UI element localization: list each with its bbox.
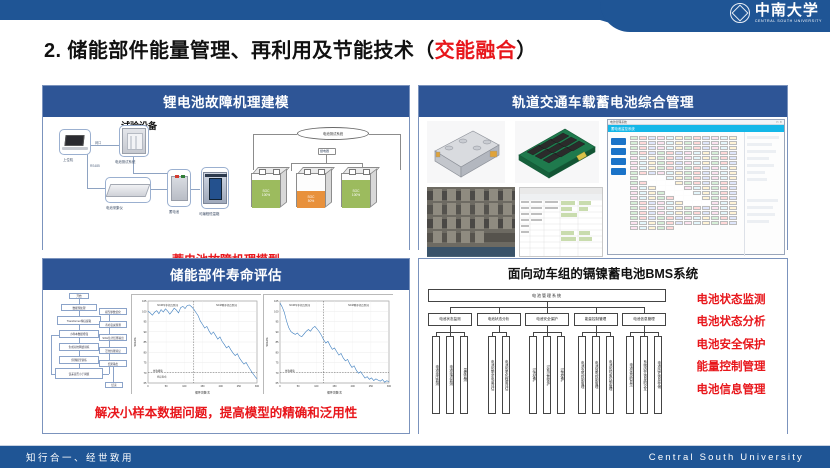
bms-cell[interactable] xyxy=(729,196,737,200)
tree-leafbus-1 xyxy=(492,332,506,333)
bms-cell[interactable] xyxy=(666,211,674,215)
bms-cell[interactable] xyxy=(720,141,728,145)
bms-cell[interactable] xyxy=(648,211,656,215)
svg-text:200: 200 xyxy=(219,385,224,388)
bms-cell[interactable] xyxy=(684,186,692,190)
panel-rail-battery-management: 轨道交通车载蓄电池综合管理 xyxy=(418,85,788,250)
bms-cell[interactable] xyxy=(693,151,701,155)
svg-text:200: 200 xyxy=(351,385,356,388)
bms-cell[interactable] xyxy=(630,221,638,225)
image-battery-box-cad xyxy=(427,121,505,183)
bms-cell[interactable] xyxy=(693,196,701,200)
wire-label-rs485: RS485 xyxy=(90,164,100,168)
bms-cell[interactable] xyxy=(648,136,656,140)
bms-cell[interactable] xyxy=(639,151,647,155)
bms-cell[interactable] xyxy=(711,151,719,155)
bms-cell[interactable] xyxy=(657,201,665,205)
bms-cell[interactable] xyxy=(702,136,710,140)
svg-text:循环次数/次: 循环次数/次 xyxy=(327,391,342,395)
bms-cell[interactable] xyxy=(684,206,692,210)
svg-text:250: 250 xyxy=(369,385,374,388)
bms-cell[interactable] xyxy=(666,176,674,180)
bms-cell[interactable] xyxy=(648,201,656,205)
bms-cell[interactable] xyxy=(648,196,656,200)
bms-cell[interactable] xyxy=(648,156,656,160)
bms-cell[interactable] xyxy=(666,171,674,175)
bms-cell[interactable] xyxy=(630,201,638,205)
bms-cell[interactable] xyxy=(630,226,638,230)
bms-cell[interactable] xyxy=(666,136,674,140)
bms-cell[interactable] xyxy=(639,206,647,210)
bms-cell[interactable] xyxy=(720,216,728,220)
bms-cell[interactable] xyxy=(702,151,710,155)
bms-cell[interactable] xyxy=(711,141,719,145)
bms-cell[interactable] xyxy=(720,186,728,190)
bms-cell[interactable] xyxy=(666,151,674,155)
bms-cell[interactable] xyxy=(711,176,719,180)
cell-2-terminal-b xyxy=(318,169,325,175)
bms-cell[interactable] xyxy=(657,221,665,225)
tree-leaf-1-1: 电池的老化程度评估 xyxy=(502,336,510,414)
bms-cell[interactable] xyxy=(684,211,692,215)
bms-cell[interactable] xyxy=(711,191,719,195)
bms-cell[interactable] xyxy=(693,171,701,175)
bms-cell[interactable] xyxy=(720,221,728,225)
bms-cell[interactable] xyxy=(657,136,665,140)
bms-cell[interactable] xyxy=(630,211,638,215)
bms-cell[interactable] xyxy=(693,141,701,145)
bms-cell[interactable] xyxy=(675,146,683,150)
bms-cell[interactable] xyxy=(675,211,683,215)
bms-cell[interactable] xyxy=(639,176,647,180)
bms-cell[interactable] xyxy=(657,176,665,180)
bms-cell[interactable] xyxy=(675,201,683,205)
bms-cell[interactable] xyxy=(675,186,683,190)
svg-text:150: 150 xyxy=(200,385,205,388)
bms-cell[interactable] xyxy=(657,151,665,155)
footer-university-name: Central South University xyxy=(649,452,804,463)
tree-leaf-2-1: 过充过放保护 xyxy=(543,336,551,414)
bms-cell[interactable] xyxy=(720,161,728,165)
bms-cell[interactable] xyxy=(711,156,719,160)
bms-cell[interactable] xyxy=(639,201,647,205)
bms-cell[interactable] xyxy=(675,196,683,200)
bms-cell[interactable] xyxy=(711,136,719,140)
bms-cell[interactable] xyxy=(729,171,737,175)
bms-cell[interactable] xyxy=(639,211,647,215)
bms-cell[interactable] xyxy=(711,221,719,225)
chamber-icon xyxy=(203,172,227,204)
bms-cell[interactable] xyxy=(729,136,737,140)
bms-cell[interactable] xyxy=(720,181,728,185)
panel-lithium-fault-modeling: 锂电池故障机理建模 试验设备 网口 RS485 上位机 电池测试系统 xyxy=(42,85,410,250)
bms-cell[interactable] xyxy=(675,166,683,170)
bms-cell[interactable] xyxy=(675,171,683,175)
image-data-table-screenshot xyxy=(519,187,603,257)
bms-cell[interactable] xyxy=(684,156,692,160)
bms-cell[interactable] xyxy=(639,161,647,165)
bms-cell[interactable] xyxy=(657,186,665,190)
bms-cell[interactable] xyxy=(693,146,701,150)
page-header: 中南大学 CENTRAL SOUTH UNIVERSITY xyxy=(0,0,830,32)
bms-cell[interactable] xyxy=(648,191,656,195)
bms-cell[interactable] xyxy=(711,196,719,200)
bms-cell[interactable] xyxy=(639,186,647,190)
life-assessment-flowchart: 开始 数据预处理 Transformer特征提取 小样本数据增强 生成对抗网络训… xyxy=(43,290,129,400)
bms-cell[interactable] xyxy=(648,181,656,185)
bms-cell[interactable] xyxy=(711,211,719,215)
bms-cell[interactable] xyxy=(666,156,674,160)
svg-text:100: 100 xyxy=(182,385,187,388)
bms-cell[interactable] xyxy=(693,136,701,140)
bms-cell[interactable] xyxy=(648,176,656,180)
tree-root-node: 电池管理系统 xyxy=(428,289,666,302)
battery-cell-2: SOC50% xyxy=(296,167,336,209)
tree-leaf-2-2: 过温保护 xyxy=(557,336,565,414)
bms-cell[interactable] xyxy=(711,166,719,170)
svg-text:150: 150 xyxy=(332,385,337,388)
panel-storage-life-assessment: 储能部件寿命评估 开始 数据预处理 Transformer特征提取 小样本数据增… xyxy=(42,258,410,434)
bms-cell[interactable] xyxy=(711,146,719,150)
bms-cell[interactable] xyxy=(657,166,665,170)
svg-text:100: 100 xyxy=(274,309,279,313)
bms-cell[interactable] xyxy=(630,191,638,195)
bms-cell[interactable] xyxy=(657,141,665,145)
bms-cell[interactable] xyxy=(630,216,638,220)
bms-cell[interactable] xyxy=(648,221,656,225)
bms-cell[interactable] xyxy=(711,206,719,210)
bms-cell[interactable] xyxy=(684,146,692,150)
flow-decision: 误差是否小于阈值 xyxy=(55,368,103,379)
bms-cell[interactable] xyxy=(693,221,701,225)
bms-cell[interactable] xyxy=(684,181,692,185)
bms-cell[interactable] xyxy=(666,196,674,200)
bms-cell[interactable] xyxy=(702,201,710,205)
bms-cell[interactable] xyxy=(675,216,683,220)
page-title-tail: ） xyxy=(516,40,536,62)
bms-cell[interactable] xyxy=(657,226,665,230)
bms-cell[interactable] xyxy=(648,171,656,175)
bms-cell[interactable] xyxy=(639,216,647,220)
bms-cell[interactable] xyxy=(630,151,638,155)
bms-cell[interactable] xyxy=(720,156,728,160)
bms-cell[interactable] xyxy=(630,171,638,175)
bms-cell[interactable] xyxy=(648,186,656,190)
bms-cell[interactable] xyxy=(639,166,647,170)
bms-cell[interactable] xyxy=(711,181,719,185)
bms-cell[interactable] xyxy=(639,181,647,185)
bms-cell[interactable] xyxy=(675,151,683,155)
bms-cell[interactable] xyxy=(639,136,647,140)
flow-node-9: SOH估计结果输出 xyxy=(99,334,127,341)
bms-cell[interactable] xyxy=(630,196,638,200)
cell-3-terminal-a xyxy=(349,169,356,175)
bms-cell[interactable] xyxy=(684,221,692,225)
bms-cell[interactable] xyxy=(657,146,665,150)
bms-cell[interactable] xyxy=(666,206,674,210)
bms-cell[interactable] xyxy=(657,161,665,165)
bms-cell[interactable] xyxy=(666,161,674,165)
bms-cell[interactable] xyxy=(702,161,710,165)
bms-cell[interactable] xyxy=(720,136,728,140)
bms-cell[interactable] xyxy=(729,181,737,185)
flow-node-4: 生成对抗网络训练 xyxy=(59,343,99,351)
battery-cell-1: SOC100% xyxy=(251,167,291,209)
bms-cell[interactable] xyxy=(630,186,638,190)
bms-cell[interactable] xyxy=(639,221,647,225)
tree-leaf-4-2: 电池历史信息存储 xyxy=(654,336,662,414)
bms-cell[interactable] xyxy=(729,141,737,145)
bms-cell[interactable] xyxy=(720,176,728,180)
bms-cell[interactable] xyxy=(684,201,692,205)
bms-cell[interactable] xyxy=(702,206,710,210)
bms-cell[interactable] xyxy=(720,196,728,200)
bms-cell[interactable] xyxy=(729,186,737,190)
bms-cell[interactable] xyxy=(675,191,683,195)
flow-node-7: 模型参数优化 xyxy=(99,308,127,315)
bms-cell[interactable] xyxy=(657,191,665,195)
bms-cell[interactable] xyxy=(657,216,665,220)
bms-cell[interactable] xyxy=(657,181,665,185)
bms-cell[interactable] xyxy=(693,186,701,190)
bms-cell[interactable] xyxy=(630,156,638,160)
bms-cell[interactable] xyxy=(639,226,647,230)
bms-cell[interactable] xyxy=(702,216,710,220)
bms-cell[interactable] xyxy=(693,161,701,165)
bms-cell[interactable] xyxy=(702,221,710,225)
page-title-main: 2. 储能部件能量管理、再利用及节能技术（ xyxy=(44,40,435,62)
tree-branch-1: 电池状态分析 xyxy=(477,313,521,326)
bms-cell[interactable] xyxy=(630,161,638,165)
svg-text:拐点寿命: 拐点寿命 xyxy=(157,374,167,378)
logo-english-name: CENTRAL SOUTH UNIVERSITY xyxy=(755,20,822,24)
bms-cell[interactable] xyxy=(729,176,737,180)
bms-cell[interactable] xyxy=(675,156,683,160)
bms-cell[interactable] xyxy=(666,181,674,185)
bms-cell[interactable] xyxy=(630,166,638,170)
tree-leaf-3-1: 电池放电控制管理 xyxy=(592,336,600,414)
bms-cell[interactable] xyxy=(657,196,665,200)
bms-cell[interactable] xyxy=(666,226,674,230)
bms-cell[interactable] xyxy=(729,206,737,210)
bms-cell[interactable] xyxy=(729,166,737,170)
bms-cell[interactable] xyxy=(702,191,710,195)
bms-cell[interactable] xyxy=(693,181,701,185)
bms-cell[interactable] xyxy=(657,156,665,160)
bms-cell[interactable] xyxy=(729,211,737,215)
bms-cell[interactable] xyxy=(693,156,701,160)
bms-cell[interactable] xyxy=(702,166,710,170)
bms-cell[interactable] xyxy=(720,151,728,155)
bms-cell[interactable] xyxy=(693,206,701,210)
bms-cell[interactable] xyxy=(639,191,647,195)
bms-software-window[interactable]: 电池管理系统 ▭ ✕ 蓄电池监控系统 xyxy=(607,119,785,255)
bms-cell[interactable] xyxy=(657,211,665,215)
svg-text:250: 250 xyxy=(237,385,242,388)
bms-cell[interactable] xyxy=(729,216,737,220)
bms-sidebar-button-2[interactable] xyxy=(611,158,626,165)
cell-1-terminal-a xyxy=(259,169,266,175)
svg-text:NCM早于拐点区间: NCM早于拐点区间 xyxy=(157,303,178,307)
bms-cell[interactable] xyxy=(684,161,692,165)
bms-cell[interactable] xyxy=(720,211,728,215)
bms-cell[interactable] xyxy=(720,191,728,195)
bms-cell[interactable] xyxy=(729,161,737,165)
tree-leaf-0-0: 电池电压监测 xyxy=(432,336,440,414)
bms-cell[interactable] xyxy=(630,141,638,145)
bms-cell[interactable] xyxy=(702,186,710,190)
bms-cell[interactable] xyxy=(639,171,647,175)
window-controls-icon[interactable]: ▭ ✕ xyxy=(776,120,782,124)
bms-cell[interactable] xyxy=(684,166,692,170)
bms-cell[interactable] xyxy=(684,136,692,140)
bms-cell[interactable] xyxy=(702,181,710,185)
svg-text:NCM晚于拐点区间: NCM晚于拐点区间 xyxy=(216,303,237,307)
bms-cell[interactable] xyxy=(729,191,737,195)
bms-cell[interactable] xyxy=(729,151,737,155)
equipment-battery xyxy=(167,169,191,207)
bms-sidebar-button-3[interactable] xyxy=(611,168,626,175)
bms-cell[interactable] xyxy=(648,161,656,165)
bms-cell[interactable] xyxy=(630,176,638,180)
bms-cell[interactable] xyxy=(711,186,719,190)
bms-cell[interactable] xyxy=(729,156,737,160)
page-title-accent: 交能融合 xyxy=(435,40,517,62)
bms-cell[interactable] xyxy=(639,146,647,150)
panel-br-title: 面向动车组的镉镍蓄电池BMS系统 xyxy=(419,259,787,285)
bms-cell[interactable] xyxy=(702,146,710,150)
flow-node-8: 寿命衰减预测 xyxy=(99,321,127,328)
bms-cell[interactable] xyxy=(693,216,701,220)
bms-cell[interactable] xyxy=(639,196,647,200)
bms-cell[interactable] xyxy=(675,221,683,225)
tree-leafstem-1 xyxy=(499,326,500,332)
bms-cell[interactable] xyxy=(702,211,710,215)
bms-cell[interactable] xyxy=(675,206,683,210)
bms-cell[interactable] xyxy=(711,161,719,165)
flow-node-10: 泛化性能验证 xyxy=(99,347,127,354)
bms-cell[interactable] xyxy=(675,136,683,140)
bms-cell[interactable] xyxy=(630,206,638,210)
bms-cell[interactable] xyxy=(684,216,692,220)
cell-1-fill: SOC100% xyxy=(252,180,280,208)
bms-cell[interactable] xyxy=(693,211,701,215)
equipment-laptop-label: 上位机 xyxy=(63,157,73,162)
rack-icon xyxy=(122,128,146,154)
bms-cell[interactable] xyxy=(630,146,638,150)
image-battery-rack-photo xyxy=(427,187,515,257)
bms-cell[interactable] xyxy=(684,171,692,175)
bms-cell[interactable] xyxy=(693,166,701,170)
tree-leaf-4-0: 电池状态的显示 xyxy=(626,336,634,414)
bms-sidebar-button-0[interactable] xyxy=(611,138,626,145)
bms-cell[interactable] xyxy=(639,156,647,160)
wire-laptop-rack xyxy=(87,145,121,146)
bms-cell[interactable] xyxy=(648,151,656,155)
flow-node-3: 小样本数据增强 xyxy=(59,330,99,338)
bms-cell[interactable] xyxy=(648,141,656,145)
bms-cell[interactable] xyxy=(684,191,692,195)
bms-cell[interactable] xyxy=(729,201,737,205)
bms-cell[interactable] xyxy=(666,216,674,220)
bms-cell[interactable] xyxy=(711,201,719,205)
bms-cell[interactable] xyxy=(630,136,638,140)
bms-cell[interactable] xyxy=(729,146,737,150)
bms-cell[interactable] xyxy=(693,191,701,195)
bms-cell[interactable] xyxy=(666,141,674,145)
bms-cell[interactable] xyxy=(675,181,683,185)
bms-cell[interactable] xyxy=(666,201,674,205)
bms-cell[interactable] xyxy=(711,216,719,220)
bms-cell-grid[interactable] xyxy=(628,132,744,256)
bms-cell[interactable] xyxy=(702,171,710,175)
wire-ellipse-left xyxy=(253,134,297,135)
bms-cell[interactable] xyxy=(720,171,728,175)
bms-cell[interactable] xyxy=(702,196,710,200)
bms-cell[interactable] xyxy=(693,176,701,180)
bms-cell[interactable] xyxy=(666,166,674,170)
bms-cell[interactable] xyxy=(657,206,665,210)
soh-chart-2: 65707580859095100105050100150200250300NC… xyxy=(263,294,393,394)
bms-cell[interactable] xyxy=(630,181,638,185)
battery-cell-3: SOC100% xyxy=(341,167,381,209)
bms-cell[interactable] xyxy=(729,221,737,225)
bms-cell[interactable] xyxy=(684,196,692,200)
bms-cell[interactable] xyxy=(720,201,728,205)
bms-cell[interactable] xyxy=(720,206,728,210)
bms-cell[interactable] xyxy=(702,156,710,160)
bms-cell[interactable] xyxy=(648,226,656,230)
bms-cell[interactable] xyxy=(693,201,701,205)
bms-cell[interactable] xyxy=(657,171,665,175)
bms-cell[interactable] xyxy=(648,206,656,210)
wire-ellipse-left-down xyxy=(253,134,254,170)
tree-leaf-0-2: 温度监测 xyxy=(460,336,468,414)
bms-cell[interactable] xyxy=(675,141,683,145)
bms-cell[interactable] xyxy=(666,146,674,150)
bms-cell[interactable] xyxy=(702,141,710,145)
panel-cdni-bms-system: 面向动车组的镉镍蓄电池BMS系统 电池管理系统 电池状态监测电池电压监测电池电流… xyxy=(418,258,788,434)
bms-cell[interactable] xyxy=(702,176,710,180)
bms-cell[interactable] xyxy=(648,146,656,150)
bms-cell[interactable] xyxy=(666,191,674,195)
bms-cell[interactable] xyxy=(666,221,674,225)
bms-window-title: 电池管理系统 xyxy=(610,120,627,124)
bms-cell[interactable] xyxy=(675,161,683,165)
tree-leaf-1-0: 电池的剩余电量评估 xyxy=(488,336,496,414)
svg-text:300: 300 xyxy=(387,385,392,388)
equipment-battery-label: 蓄电池 xyxy=(169,209,179,214)
svg-text:NCM早于拐点区间: NCM早于拐点区间 xyxy=(289,303,310,307)
bms-cell[interactable] xyxy=(711,171,719,175)
node-relay-label: 继电器 xyxy=(320,149,329,153)
bms-cell[interactable] xyxy=(648,166,656,170)
svg-text:100: 100 xyxy=(142,309,147,313)
bms-cell[interactable] xyxy=(684,141,692,145)
bms-sidebar xyxy=(608,132,628,256)
bms-cell[interactable] xyxy=(720,146,728,150)
bms-cell[interactable] xyxy=(666,186,674,190)
tree-branch-3: 能量控制管理 xyxy=(574,313,618,326)
bms-cell[interactable] xyxy=(684,151,692,155)
bms-cell[interactable] xyxy=(720,166,728,170)
cell-3-terminal-b xyxy=(363,169,370,175)
bms-sidebar-button-1[interactable] xyxy=(611,148,626,155)
bms-cell[interactable] xyxy=(675,176,683,180)
bms-cell[interactable] xyxy=(648,216,656,220)
bms-cell[interactable] xyxy=(639,141,647,145)
bms-cell[interactable] xyxy=(684,176,692,180)
